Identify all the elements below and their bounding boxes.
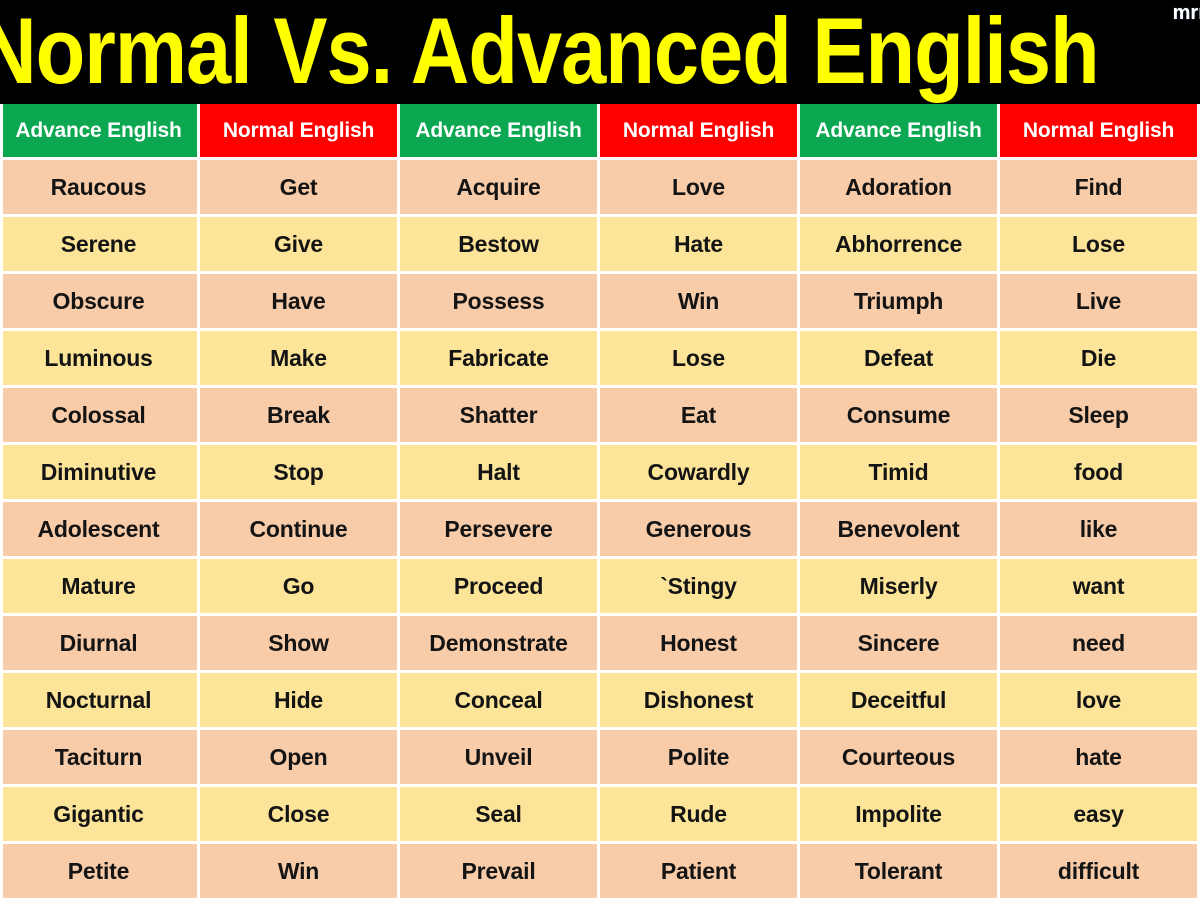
header-row: Advance English Normal English Advance E… [0,104,1200,160]
table-cell: easy [1000,787,1200,844]
table-cell: Persevere [400,502,600,559]
table-cell: Proceed [400,559,600,616]
table-cell: Lose [600,331,800,388]
table-cell: Consume [800,388,1000,445]
table-row: Luminous Make Fabricate Lose Defeat Die [0,331,1200,388]
table-cell: Generous [600,502,800,559]
table-cell: Luminous [0,331,200,388]
table-cell: Make [200,331,400,388]
table-row: Gigantic Close Seal Rude Impolite easy [0,787,1200,844]
column-header-advance-3: Advance English [800,104,1000,160]
table-row: Taciturn Open Unveil Polite Courteous ha… [0,730,1200,787]
table-cell: Mature [0,559,200,616]
table-row: Obscure Have Possess Win Triumph Live [0,274,1200,331]
table-cell: Gigantic [0,787,200,844]
table-cell: love [1000,673,1200,730]
table-cell: Get [200,160,400,217]
table-cell: Unveil [400,730,600,787]
title-banner: Normal Vs. Advanced English mrr [0,0,1200,104]
table-cell: want [1000,559,1200,616]
table-cell: Polite [600,730,800,787]
watermark-label: mrr [1173,2,1200,25]
vocabulary-table-container: Advance English Normal English Advance E… [0,104,1200,900]
table-cell: Hide [200,673,400,730]
table-row: Adolescent Continue Persevere Generous B… [0,502,1200,559]
table-cell: Go [200,559,400,616]
table-cell: Bestow [400,217,600,274]
table-cell: Rude [600,787,800,844]
table-cell: Stop [200,445,400,502]
table-row: Raucous Get Acquire Love Adoration Find [0,160,1200,217]
table-cell: Petite [0,844,200,900]
column-header-normal-2: Normal English [600,104,800,160]
table-cell: food [1000,445,1200,502]
table-cell: Seal [400,787,600,844]
table-cell: Cowardly [600,445,800,502]
table-row: Petite Win Prevail Patient Tolerant diff… [0,844,1200,900]
table-cell: Hate [600,217,800,274]
table-cell: Impolite [800,787,1000,844]
table-cell: Deceitful [800,673,1000,730]
table-cell: Have [200,274,400,331]
table-row: Diurnal Show Demonstrate Honest Sincere … [0,616,1200,673]
table-cell: Prevail [400,844,600,900]
table-cell: Win [600,274,800,331]
table-cell: need [1000,616,1200,673]
table-cell: hate [1000,730,1200,787]
table-cell: Honest [600,616,800,673]
table-cell: Benevolent [800,502,1000,559]
table-cell: Adolescent [0,502,200,559]
table-cell: Love [600,160,800,217]
table-row: Diminutive Stop Halt Cowardly Timid food [0,445,1200,502]
table-cell: `Stingy [600,559,800,616]
page-root: Normal Vs. Advanced English mrr Advance … [0,0,1200,900]
column-header-advance-2: Advance English [400,104,600,160]
table-cell: Win [200,844,400,900]
table-cell: Timid [800,445,1000,502]
table-cell: Diurnal [0,616,200,673]
table-cell: Sleep [1000,388,1200,445]
table-header: Advance English Normal English Advance E… [0,104,1200,160]
table-cell: Obscure [0,274,200,331]
table-cell: Tolerant [800,844,1000,900]
table-cell: Dishonest [600,673,800,730]
table-cell: Die [1000,331,1200,388]
table-cell: Colossal [0,388,200,445]
table-cell: Triumph [800,274,1000,331]
table-cell: difficult [1000,844,1200,900]
table-cell: Raucous [0,160,200,217]
table-row: Colossal Break Shatter Eat Consume Sleep [0,388,1200,445]
table-cell: Find [1000,160,1200,217]
table-cell: Nocturnal [0,673,200,730]
table-cell: Shatter [400,388,600,445]
table-cell: Halt [400,445,600,502]
table-cell: Conceal [400,673,600,730]
table-cell: Open [200,730,400,787]
table-cell: Defeat [800,331,1000,388]
table-cell: Give [200,217,400,274]
page-title-text: Normal Vs. Advanced English [0,5,1099,98]
table-cell: Demonstrate [400,616,600,673]
table-cell: Sincere [800,616,1000,673]
table-row: Nocturnal Hide Conceal Dishonest Deceitf… [0,673,1200,730]
table-row: Serene Give Bestow Hate Abhorrence Lose [0,217,1200,274]
table-cell: Taciturn [0,730,200,787]
table-cell: Serene [0,217,200,274]
table-cell: Miserly [800,559,1000,616]
table-cell: Abhorrence [800,217,1000,274]
table-cell: Show [200,616,400,673]
table-cell: Close [200,787,400,844]
table-cell: Eat [600,388,800,445]
column-header-normal-3: Normal English [1000,104,1200,160]
table-row: Mature Go Proceed `Stingy Miserly want [0,559,1200,616]
table-body: Raucous Get Acquire Love Adoration Find … [0,160,1200,900]
table-cell: Diminutive [0,445,200,502]
table-cell: Fabricate [400,331,600,388]
column-header-advance-1: Advance English [0,104,200,160]
page-title: Normal Vs. Advanced English [0,11,1110,93]
table-cell: Continue [200,502,400,559]
table-cell: Adoration [800,160,1000,217]
table-cell: Patient [600,844,800,900]
table-cell: Live [1000,274,1200,331]
table-cell: Lose [1000,217,1200,274]
column-header-normal-1: Normal English [200,104,400,160]
table-cell: Possess [400,274,600,331]
table-cell: Break [200,388,400,445]
table-cell: Acquire [400,160,600,217]
table-cell: Courteous [800,730,1000,787]
table-cell: like [1000,502,1200,559]
vocabulary-table: Advance English Normal English Advance E… [0,104,1200,900]
